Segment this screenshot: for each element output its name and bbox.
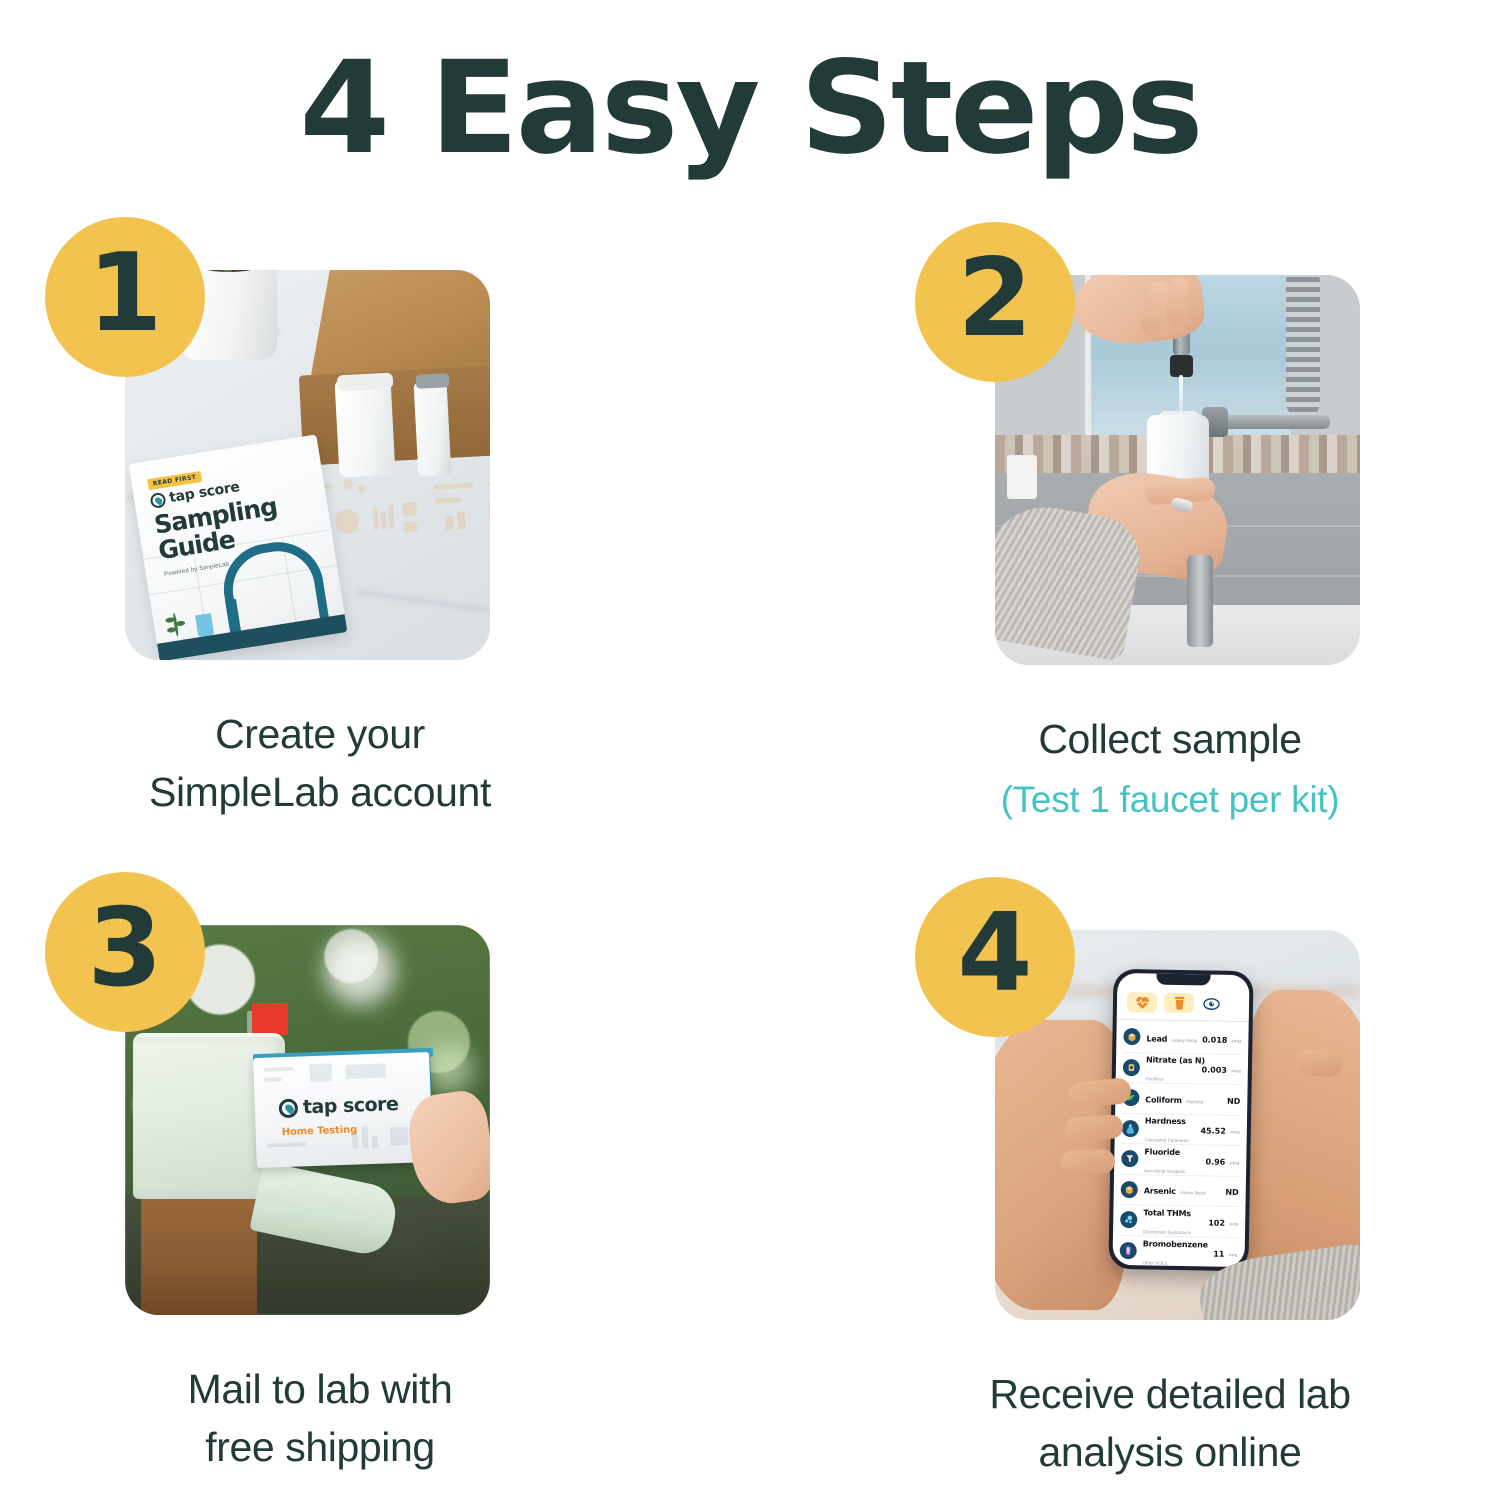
- tap-score-drop-icon: [279, 1098, 299, 1118]
- result-number: 102: [1208, 1218, 1225, 1227]
- molecule-icon: [1120, 1211, 1137, 1228]
- soap-dispenser: [1187, 555, 1213, 647]
- voc-icon: [1120, 1242, 1137, 1259]
- step-3-caption: Mail to lab with free shipping: [10, 1360, 630, 1476]
- mailbox-post: [141, 1193, 257, 1315]
- result-unit: PPB: [1229, 1253, 1238, 1258]
- steps-grid: READ FIRST tap score Sampling Guide Powe…: [0, 215, 1500, 1500]
- result-value: 102 PPB: [1205, 1212, 1238, 1231]
- step-2-caption: Collect sample (Test 1 faucet per kit): [860, 710, 1480, 827]
- sample-cup-icon[interactable]: [1164, 993, 1194, 1014]
- step-4-caption: Receive detailed lab analysis online: [860, 1365, 1480, 1481]
- result-number: 0.96: [1205, 1157, 1225, 1166]
- result-number: ND: [1227, 1097, 1240, 1106]
- box-tagline: Home Testing: [282, 1125, 358, 1139]
- result-value: 45.52 PPM: [1197, 1121, 1240, 1140]
- infographic-page: 4 Easy Steps: [0, 0, 1500, 1500]
- result-category: Fertilizer: [1146, 1077, 1164, 1082]
- flask-icon: [1122, 1120, 1139, 1137]
- result-category: Non-Metal Inorganic: [1144, 1168, 1185, 1174]
- result-unit: PPB: [1229, 1222, 1238, 1227]
- kit-box-insert: [299, 364, 490, 465]
- lead-icon: [1123, 1028, 1140, 1045]
- results-list[interactable]: Lead Heavy Metal 0.018 PPM: [1112, 1022, 1248, 1267]
- result-value: 11 PPB: [1210, 1243, 1238, 1261]
- results-toolbar: [1117, 987, 1250, 1019]
- sampling-guide-booklet: READ FIRST tap score Sampling Guide Powe…: [129, 434, 348, 660]
- result-category: Heavy Metal: [1180, 1190, 1206, 1195]
- heart-pulse-icon[interactable]: [1127, 992, 1157, 1013]
- step-4-media: Lead Heavy Metal 0.018 PPM: [995, 930, 1360, 1320]
- step-1: READ FIRST tap score Sampling Guide Powe…: [0, 215, 750, 870]
- result-text: Bromobenzene Other VOCs: [1142, 1233, 1210, 1267]
- step-1-caption-line1: Create your: [215, 711, 425, 757]
- nitrate-icon: [1123, 1059, 1140, 1076]
- step-2-caption-line1: Collect sample: [1038, 716, 1301, 762]
- result-number: 0.018: [1202, 1035, 1227, 1044]
- smartphone: Lead Heavy Metal 0.018 PPM: [1108, 969, 1253, 1271]
- tap-score-drop-icon: [149, 491, 166, 508]
- faucet-arm: [1210, 415, 1330, 429]
- result-row[interactable]: Total THMs Disinfection Byproducts 102 P…: [1120, 1205, 1239, 1238]
- step-1-caption-line2: SimpleLab account: [149, 769, 491, 815]
- plant-sprig-illustration: [164, 611, 190, 642]
- step-3-badge: 3: [45, 872, 205, 1032]
- result-unit: PPM: [1230, 1130, 1240, 1135]
- page-title: 4 Easy Steps: [0, 42, 1500, 176]
- result-unit: PPM: [1232, 1039, 1242, 1044]
- result-value: 0.018 PPM: [1199, 1029, 1242, 1048]
- tap-score-box: tap score Home Testing: [253, 1052, 433, 1168]
- result-number: ND: [1225, 1188, 1238, 1197]
- step-4-caption-line2: analysis online: [1039, 1429, 1302, 1475]
- step-2-subcaption: (Test 1 faucet per kit): [860, 774, 1480, 827]
- result-value: 0.003 PPM: [1198, 1060, 1241, 1079]
- result-number: 11: [1213, 1249, 1224, 1258]
- result-value: 0.96 PPM: [1202, 1151, 1239, 1170]
- step-3-caption-line1: Mail to lab with: [188, 1366, 453, 1412]
- result-name: Bromobenzene: [1143, 1239, 1208, 1249]
- result-text: Nitrate (as N) Fertilizer: [1146, 1050, 1199, 1087]
- result-row[interactable]: Fluoride Non-Metal Inorganic 0.96 PPM: [1121, 1144, 1240, 1177]
- result-name: Nitrate (as N): [1146, 1056, 1205, 1066]
- finger: [1061, 1149, 1116, 1175]
- sample-vial-cap: [416, 373, 450, 389]
- result-text: Arsenic Heavy Metal: [1144, 1181, 1223, 1200]
- wall-outlet: [1007, 455, 1037, 499]
- phone-screen: Lead Heavy Metal 0.018 PPM: [1112, 973, 1249, 1267]
- result-category: Other VOCs: [1142, 1260, 1167, 1265]
- bokeh-light: [325, 935, 395, 1005]
- result-name: Lead: [1146, 1034, 1167, 1043]
- sample-vial: [414, 381, 452, 477]
- mailbox-flag: [252, 1003, 288, 1035]
- faucet-spring-hose: [1286, 275, 1320, 417]
- result-value: ND: [1224, 1090, 1241, 1108]
- result-value: ND: [1222, 1182, 1239, 1200]
- water-glass-illustration: [195, 613, 214, 637]
- step-3-caption-line2: free shipping: [205, 1424, 435, 1470]
- step-1-badge: 1: [45, 217, 205, 377]
- result-unit: PPM: [1231, 1069, 1241, 1074]
- phone-notch: [1156, 974, 1210, 986]
- step-1-caption: Create your SimpleLab account: [10, 705, 630, 821]
- box-logo-text: tap score: [303, 1093, 399, 1118]
- result-unit: PPM: [1230, 1161, 1240, 1166]
- result-text: Coliform Bacteria: [1145, 1089, 1224, 1108]
- funnel-icon: [1121, 1150, 1138, 1167]
- sample-bottle-cap: [337, 373, 394, 392]
- step-1-media: READ FIRST tap score Sampling Guide Powe…: [125, 270, 490, 660]
- result-name: Hardness: [1145, 1117, 1186, 1127]
- step-2-badge: 2: [915, 222, 1075, 382]
- result-row[interactable]: Bromobenzene Other VOCs 11 PPB: [1119, 1235, 1238, 1267]
- finger: [1064, 1114, 1124, 1142]
- result-category: Heavy Metal: [1172, 1038, 1198, 1043]
- result-name: Arsenic: [1144, 1187, 1176, 1197]
- faucet-sprayer-tip: [1170, 355, 1193, 377]
- result-name: Fluoride: [1144, 1147, 1180, 1157]
- step-2-media: 2: [995, 275, 1360, 665]
- result-number: 45.52: [1200, 1127, 1225, 1136]
- result-name: Total THMs: [1143, 1208, 1191, 1218]
- step-4-caption-line1: Receive detailed lab: [989, 1371, 1350, 1417]
- sample-bottle: [334, 377, 395, 478]
- result-name: Coliform: [1145, 1095, 1182, 1105]
- box-logo: tap score: [279, 1093, 399, 1119]
- result-number: 0.003: [1202, 1066, 1227, 1075]
- step-4: Lead Heavy Metal 0.018 PPM: [750, 870, 1500, 1500]
- step-3: tap score Home Testing 3 Mail to lab wit…: [0, 870, 750, 1500]
- result-text: Lead Heavy Metal: [1146, 1028, 1199, 1047]
- eye-icon[interactable]: [1201, 993, 1221, 1013]
- result-row[interactable]: Nitrate (as N) Fertilizer 0.003 PPM: [1123, 1052, 1242, 1085]
- result-category: Bacteria: [1186, 1099, 1203, 1104]
- step-4-badge: 4: [915, 877, 1075, 1037]
- step-2: 2 Collect sample (Test 1 faucet per kit): [750, 215, 1500, 870]
- step-3-media: tap score Home Testing 3: [125, 925, 490, 1315]
- arsenic-icon: [1121, 1181, 1138, 1198]
- result-text: Fluoride Non-Metal Inorganic: [1144, 1141, 1203, 1178]
